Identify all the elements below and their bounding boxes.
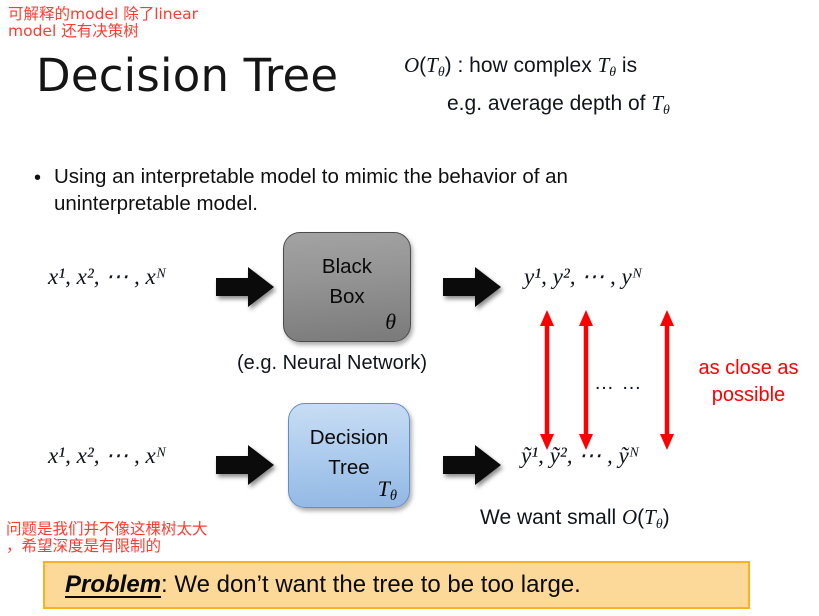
we-want-small-note: We want small O(Tθ) (480, 505, 670, 532)
double-arrow-icon-3 (659, 310, 675, 450)
formula-theta-subscript: θ (438, 64, 445, 79)
bullet-marker: • (34, 165, 41, 192)
formula-o-symbol: O (404, 53, 419, 77)
red-annotation-top: 可解释的model 除了linear model 还有决策树 (8, 6, 198, 41)
formula-description: : how complex (452, 54, 598, 77)
red-annotation-bottom: 问题是我们并不像这棵树太大 ，希望深度是有限制的 (6, 521, 208, 556)
want-small-text: We want small (480, 506, 622, 529)
arrow-right-icon-input-top (216, 265, 274, 309)
arrow-right-icon-output-bottom (443, 443, 501, 487)
example-text: e.g. average depth of (447, 92, 651, 115)
problem-banner-text: Problem: We don’t want the tree to be to… (65, 571, 581, 599)
as-close-as-possible-note: as close as possible (686, 355, 811, 409)
neural-network-caption: (e.g. Neural Network) (237, 352, 427, 375)
problem-rest: : We don’t want the tree to be too large… (161, 571, 581, 598)
bullet-paragraph: • Using an interpretable model to mimic … (32, 163, 632, 218)
double-arrow-icon-1 (539, 310, 555, 450)
problem-banner: Problem: We don’t want the tree to be to… (43, 561, 750, 609)
output-label-top: y¹, y², ⋯ , yᴺ (524, 264, 642, 290)
output-label-bottom: ỹ¹, ỹ², ⋯ , ỹᴺ (521, 443, 639, 469)
black-box-node: Black Box θ (283, 232, 411, 342)
want-small-close-paren: ) (663, 506, 670, 529)
tree-param-theta: θ (390, 488, 397, 504)
double-arrow-icon-2 (578, 310, 594, 450)
example-formula: e.g. average depth of Tθ (447, 91, 670, 118)
input-label-top: x¹, x², ⋯ , xᴺ (48, 264, 166, 290)
problem-keyword: Problem (65, 571, 161, 598)
decision-tree-node: Decision Tree Tθ (288, 403, 410, 508)
formula-close-paren: ) (445, 54, 452, 77)
bullet-text: Using an interpretable model to mimic th… (32, 163, 632, 218)
page-title: Decision Tree (36, 49, 338, 102)
complexity-formula: O(Tθ) : how complex Tθ is (404, 53, 637, 80)
formula-t-symbol: T (426, 53, 438, 77)
formula-tail: is (616, 54, 637, 77)
ellipsis-between-arrows: … … (594, 372, 643, 395)
formula-t-symbol-2: T (598, 53, 610, 77)
example-theta-subscript: θ (663, 102, 670, 117)
tree-box-t-theta-param: Tθ (378, 476, 397, 505)
want-small-theta-subscript: θ (656, 516, 663, 531)
black-box-label-line1: Black (284, 255, 410, 279)
tree-param-t: T (378, 476, 390, 501)
want-small-o-symbol: O (622, 505, 637, 529)
want-small-t-symbol: T (644, 505, 656, 529)
example-t-symbol: T (651, 91, 663, 115)
black-box-label-line2: Box (284, 285, 410, 309)
arrow-right-icon-output-top (443, 265, 501, 309)
tree-box-label-line1: Decision (289, 426, 409, 450)
black-box-theta-param: θ (385, 309, 396, 335)
slide-canvas: 可解释的model 除了linear model 还有决策树 Decision … (0, 0, 819, 616)
arrow-right-icon-input-bottom (216, 443, 274, 487)
input-label-bottom: x¹, x², ⋯ , xᴺ (48, 443, 166, 469)
